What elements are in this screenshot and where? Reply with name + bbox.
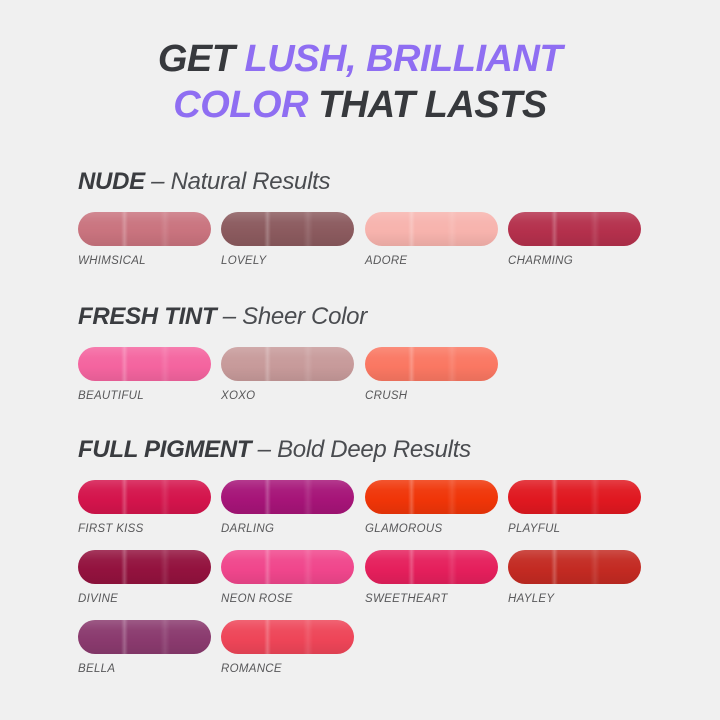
swatch-item[interactable]: BELLA [78, 620, 211, 675]
swatch-streak [551, 550, 558, 584]
swatch-label: CHARMING [508, 255, 641, 267]
section-title: FULL PIGMENT – Bold Deep Results [78, 436, 471, 464]
swatch-streak-secondary [160, 620, 170, 654]
swatch-streak [121, 620, 128, 654]
section-name: FRESH TINT [78, 303, 216, 330]
swatch-streak-secondary [160, 550, 170, 584]
section-descriptor: Bold Deep Results [277, 436, 471, 463]
swatch-sheen [78, 550, 211, 584]
swatch-sheen [221, 480, 354, 514]
lipstick-swatch-whimsical[interactable] [78, 212, 211, 246]
swatch-sheen [365, 550, 498, 584]
swatch-item[interactable]: GLAMOROUS [365, 480, 498, 535]
swatch-streak [551, 480, 558, 514]
section-nude: NUDE – Natural ResultsWHIMSICALLOVELYADO… [78, 168, 330, 196]
swatch-sheen [78, 212, 211, 246]
swatch-streak-secondary [303, 212, 313, 246]
swatch-label: HAYLEY [508, 593, 641, 605]
swatch-streak-secondary [160, 347, 170, 381]
swatch-streak [121, 480, 128, 514]
lipstick-swatch-neon-rose[interactable] [221, 550, 354, 584]
swatch-streak-secondary [447, 212, 457, 246]
swatch-streak-secondary [303, 480, 313, 514]
lipstick-swatch-glamorous[interactable] [365, 480, 498, 514]
swatch-sheen [221, 620, 354, 654]
swatch-streak [408, 212, 415, 246]
swatch-streak [264, 620, 271, 654]
lipstick-swatch-darling[interactable] [221, 480, 354, 514]
swatch-streak-secondary [160, 212, 170, 246]
swatch-streak [408, 480, 415, 514]
swatch-label: NEON ROSE [221, 593, 354, 605]
lipstick-swatch-first-kiss[interactable] [78, 480, 211, 514]
swatch-streak [408, 347, 415, 381]
swatch-label: GLAMOROUS [365, 523, 498, 535]
headline-color: COLOR [173, 84, 308, 126]
section-descriptor: Sheer Color [242, 303, 367, 330]
section-title: FRESH TINT – Sheer Color [78, 303, 367, 331]
swatch-streak-secondary [303, 550, 313, 584]
headline-line-1: GET LUSH, BRILLIANT [0, 36, 720, 82]
swatch-streak-secondary [303, 347, 313, 381]
swatch-label: DARLING [221, 523, 354, 535]
swatch-label: LOVELY [221, 255, 354, 267]
swatch-label: XOXO [221, 390, 354, 402]
swatch-sheen [221, 347, 354, 381]
swatch-item[interactable]: DARLING [221, 480, 354, 535]
swatch-streak-secondary [447, 480, 457, 514]
swatch-item[interactable]: PLAYFUL [508, 480, 641, 535]
swatch-item[interactable]: HAYLEY [508, 550, 641, 605]
swatch-item[interactable]: CHARMING [508, 212, 641, 267]
swatch-sheen [365, 480, 498, 514]
swatch-streak [121, 212, 128, 246]
lipstick-swatch-romance[interactable] [221, 620, 354, 654]
swatch-sheen [365, 347, 498, 381]
shade-chart-page: GET LUSH, BRILLIANT COLOR THAT LASTS NUD… [0, 0, 720, 720]
swatch-label: PLAYFUL [508, 523, 641, 535]
swatch-streak [121, 550, 128, 584]
swatch-streak-secondary [447, 550, 457, 584]
swatch-label: BEAUTIFUL [78, 390, 211, 402]
section-name: NUDE [78, 168, 145, 195]
lipstick-swatch-crush[interactable] [365, 347, 498, 381]
swatch-sheen [221, 550, 354, 584]
swatch-sheen [365, 212, 498, 246]
swatch-item[interactable]: FIRST KISS [78, 480, 211, 535]
swatch-label: ADORE [365, 255, 498, 267]
section-name: FULL PIGMENT [78, 436, 251, 463]
swatch-item[interactable]: ROMANCE [221, 620, 354, 675]
swatch-sheen [78, 347, 211, 381]
swatch-item[interactable]: DIVINE [78, 550, 211, 605]
swatch-streak [264, 550, 271, 584]
swatch-item[interactable]: LOVELY [221, 212, 354, 267]
section-title: NUDE – Natural Results [78, 168, 330, 196]
lipstick-swatch-adore[interactable] [365, 212, 498, 246]
swatch-sheen [508, 480, 641, 514]
section-dash: – [251, 436, 277, 463]
lipstick-swatch-divine[interactable] [78, 550, 211, 584]
swatch-item[interactable]: SWEETHEART [365, 550, 498, 605]
section-full-pigment: FULL PIGMENT – Bold Deep ResultsFIRST KI… [78, 436, 471, 464]
swatch-item[interactable]: NEON ROSE [221, 550, 354, 605]
swatch-streak [264, 480, 271, 514]
section-dash: – [145, 168, 171, 195]
swatch-sheen [78, 620, 211, 654]
lipstick-swatch-bella[interactable] [78, 620, 211, 654]
swatch-streak-secondary [590, 550, 600, 584]
swatch-sheen [78, 480, 211, 514]
swatch-label: FIRST KISS [78, 523, 211, 535]
lipstick-swatch-xoxo[interactable] [221, 347, 354, 381]
lipstick-swatch-playful[interactable] [508, 480, 641, 514]
swatch-label: DIVINE [78, 593, 211, 605]
section-dash: – [216, 303, 242, 330]
swatch-streak [408, 550, 415, 584]
swatch-streak-secondary [447, 347, 457, 381]
lipstick-swatch-sweetheart[interactable] [365, 550, 498, 584]
lipstick-swatch-charming[interactable] [508, 212, 641, 246]
headline-that-lasts: THAT LASTS [308, 84, 547, 126]
swatch-streak [264, 212, 271, 246]
lipstick-swatch-lovely[interactable] [221, 212, 354, 246]
headline-lush-brilliant: LUSH, BRILLIANT [245, 38, 563, 80]
swatch-streak [551, 212, 558, 246]
swatch-label: CRUSH [365, 390, 498, 402]
swatch-sheen [508, 550, 641, 584]
swatch-label: WHIMSICAL [78, 255, 211, 267]
headline-get: GET [158, 38, 245, 80]
swatch-streak [264, 347, 271, 381]
swatch-streak-secondary [160, 480, 170, 514]
swatch-streak-secondary [590, 212, 600, 246]
section-fresh-tint: FRESH TINT – Sheer ColorBEAUTIFULXOXOCRU… [78, 303, 367, 331]
lipstick-swatch-beautiful[interactable] [78, 347, 211, 381]
swatch-label: BELLA [78, 663, 211, 675]
page-title: GET LUSH, BRILLIANT COLOR THAT LASTS [0, 36, 720, 129]
swatch-item[interactable]: ADORE [365, 212, 498, 267]
swatch-streak [121, 347, 128, 381]
swatch-item[interactable]: XOXO [221, 347, 354, 402]
swatch-item[interactable]: WHIMSICAL [78, 212, 211, 267]
swatch-sheen [508, 212, 641, 246]
swatch-item[interactable]: BEAUTIFUL [78, 347, 211, 402]
swatch-label: SWEETHEART [365, 593, 498, 605]
swatch-label: ROMANCE [221, 663, 354, 675]
swatch-streak-secondary [303, 620, 313, 654]
swatch-sheen [221, 212, 354, 246]
swatch-item[interactable]: CRUSH [365, 347, 498, 402]
section-descriptor: Natural Results [171, 168, 331, 195]
swatch-streak-secondary [590, 480, 600, 514]
headline-line-2: COLOR THAT LASTS [0, 82, 720, 128]
lipstick-swatch-hayley[interactable] [508, 550, 641, 584]
